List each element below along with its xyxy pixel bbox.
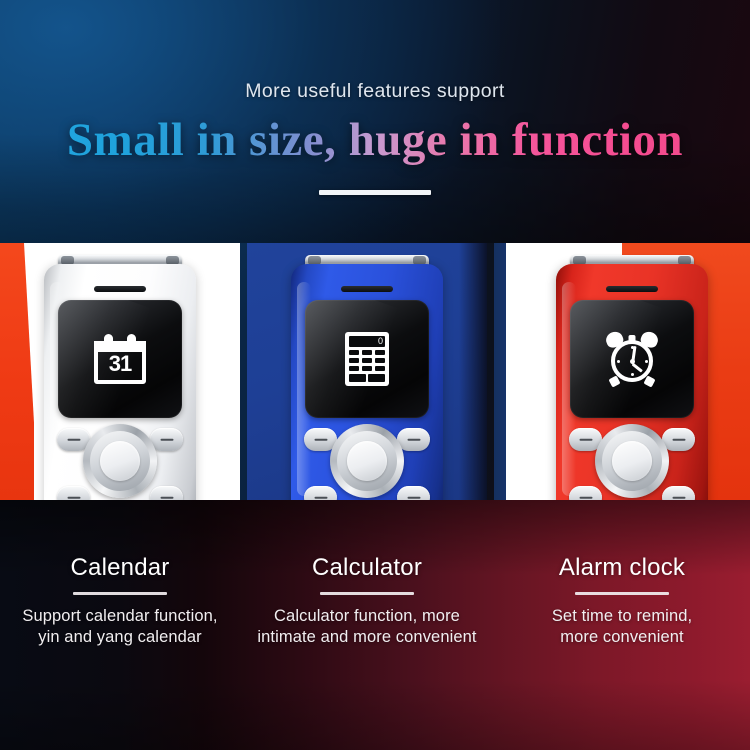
- phone-blue: 0: [291, 255, 443, 500]
- phone-body: [556, 264, 708, 500]
- caption-line-1: Calculator function, more: [247, 606, 487, 627]
- calculator-key: [362, 350, 372, 355]
- feature-panel-alarm: [494, 243, 750, 500]
- phone-red: [556, 255, 708, 500]
- caption-line-2: more convenient: [494, 627, 750, 648]
- calculator-key-wide: [349, 374, 366, 382]
- softkey-right: [397, 428, 430, 451]
- caption-calculator: Calculator Calculator function, more int…: [247, 554, 487, 648]
- calculator-key-wide: [368, 374, 385, 382]
- earpiece-speaker: [606, 286, 658, 292]
- call-key: [569, 486, 602, 500]
- calculator-key: [375, 366, 385, 371]
- caption-divider: [73, 592, 167, 595]
- calculator-display-value: 0: [378, 336, 383, 347]
- calculator-icon: 0: [345, 332, 389, 386]
- alarm-tick-9: [617, 360, 620, 363]
- caption-title: Calendar: [0, 554, 240, 582]
- hero-divider: [319, 190, 431, 195]
- hero-subtitle: More useful features support: [0, 80, 750, 103]
- caption-title: Calculator: [247, 554, 487, 582]
- panel-left-edge: [494, 243, 506, 500]
- phone-screen: 31: [58, 300, 182, 418]
- phone-keypad: [291, 424, 443, 500]
- hero-section: More useful features support Small in si…: [0, 0, 750, 243]
- calculator-key: [349, 350, 359, 355]
- end-key: [397, 486, 430, 500]
- call-key: [57, 486, 90, 500]
- hero-headline: Small in size, huge in function: [0, 113, 750, 167]
- alarm-tick-12: [631, 346, 634, 349]
- phone-screen: [570, 300, 694, 418]
- alarm-foot-right: [644, 375, 656, 387]
- caption-divider: [575, 592, 669, 595]
- alarm-tick-3: [645, 360, 648, 363]
- feature-panel-calculator: 0: [247, 243, 487, 500]
- phone-white: 31: [44, 255, 196, 500]
- alarm-tick-6: [631, 373, 634, 376]
- calendar-icon: 31: [94, 334, 146, 384]
- caption-row: Calendar Support calendar function, yin …: [0, 500, 750, 750]
- earpiece-speaker: [94, 286, 146, 292]
- calculator-key: [349, 366, 359, 371]
- calculator-keys: [349, 350, 385, 371]
- caption-description: Set time to remind, more convenient: [494, 606, 750, 648]
- calculator-key: [362, 366, 372, 371]
- calculator-key: [375, 358, 385, 363]
- phone-body: 0: [291, 264, 443, 500]
- caption-divider: [320, 592, 414, 595]
- caption-line-1: Set time to remind,: [494, 606, 750, 627]
- feature-panel-calendar: 31: [0, 243, 240, 500]
- dpad-navigation: [595, 424, 669, 498]
- calculator-bottom-keys: [349, 374, 385, 382]
- dpad-navigation: [83, 424, 157, 498]
- calculator-key: [349, 358, 359, 363]
- phone-body: 31: [44, 264, 196, 500]
- caption-calendar: Calendar Support calendar function, yin …: [0, 554, 240, 648]
- caption-alarm-clock: Alarm clock Set time to remind, more con…: [494, 554, 750, 648]
- promo-banner: More useful features support Small in si…: [0, 0, 750, 750]
- caption-description: Calculator function, more intimate and m…: [247, 606, 487, 648]
- panel-accent-stripe: [0, 243, 34, 500]
- phone-keypad: [556, 424, 708, 500]
- alarm-center-pin: [630, 359, 635, 364]
- caption-description: Support calendar function, yin and yang …: [0, 606, 240, 648]
- phone-keypad: [44, 424, 196, 500]
- caption-line-1: Support calendar function,: [0, 606, 240, 627]
- calculator-key: [362, 358, 372, 363]
- alarm-clock-icon: [604, 332, 660, 386]
- softkey-right: [662, 428, 695, 451]
- phone-screen: 0: [305, 300, 429, 418]
- calculator-key: [375, 350, 385, 355]
- end-key: [150, 486, 183, 500]
- calendar-day-number: 31: [94, 353, 146, 375]
- dpad-navigation: [330, 424, 404, 498]
- softkey-right: [150, 428, 183, 451]
- caption-title: Alarm clock: [494, 554, 750, 582]
- calculator-display: 0: [349, 336, 385, 347]
- caption-line-2: intimate and more convenient: [247, 627, 487, 648]
- call-key: [304, 486, 337, 500]
- end-key: [662, 486, 695, 500]
- earpiece-speaker: [341, 286, 393, 292]
- feature-panel-strip: 31: [0, 243, 750, 500]
- caption-line-2: yin and yang calendar: [0, 627, 240, 648]
